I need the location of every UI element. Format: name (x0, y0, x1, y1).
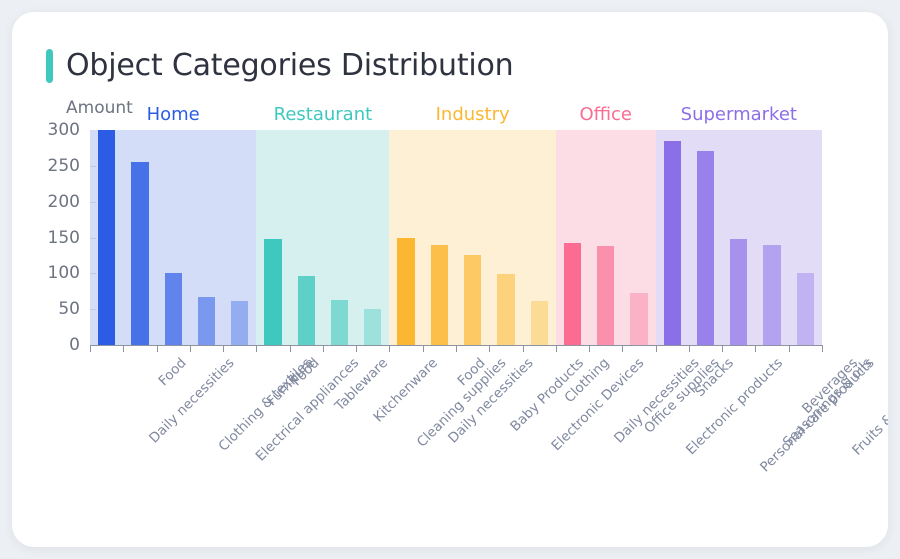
bar[interactable] (364, 309, 381, 345)
gridline (90, 309, 96, 310)
x-tick (456, 345, 457, 352)
chart-card: Object Categories Distribution Amount Ho… (12, 12, 888, 547)
x-tick (90, 345, 91, 352)
y-tick-label: 300 (36, 120, 80, 140)
x-tick (689, 345, 690, 352)
y-axis-title: Amount (66, 98, 133, 118)
bar-chart: Amount HomeRestaurantIndustryOfficeSuper… (12, 12, 888, 547)
y-tick-label: 200 (36, 192, 80, 212)
bar[interactable] (497, 274, 514, 345)
x-tick (223, 345, 224, 352)
bar[interactable] (597, 246, 614, 345)
gridline (90, 273, 96, 274)
bar[interactable] (98, 130, 115, 345)
group-label-restaurant: Restaurant (274, 104, 373, 125)
bar[interactable] (331, 300, 348, 345)
bar[interactable] (131, 162, 148, 345)
x-tick (589, 345, 590, 352)
gridline (90, 202, 96, 203)
bar[interactable] (531, 301, 548, 345)
bar[interactable] (298, 276, 315, 345)
x-tick (256, 345, 257, 352)
y-tick-label: 0 (36, 335, 80, 355)
bar[interactable] (630, 293, 647, 345)
y-tick-label: 250 (36, 156, 80, 176)
bar[interactable] (464, 255, 481, 345)
bar[interactable] (431, 245, 448, 345)
x-tick (722, 345, 723, 352)
gridline (90, 166, 96, 167)
bar[interactable] (564, 243, 581, 345)
plot-area (90, 130, 822, 345)
x-tick (157, 345, 158, 352)
bar[interactable] (198, 297, 215, 345)
group-label-office: Office (579, 104, 632, 125)
x-tick (523, 345, 524, 352)
bar[interactable] (730, 239, 747, 345)
y-tick-label: 150 (36, 228, 80, 248)
group-label-home: Home (147, 104, 200, 125)
x-tick (323, 345, 324, 352)
x-tick (190, 345, 191, 352)
bar[interactable] (797, 273, 814, 345)
x-tick (656, 345, 657, 352)
x-tick (556, 345, 557, 352)
bar[interactable] (664, 141, 681, 345)
x-tick (489, 345, 490, 352)
gridline (90, 238, 96, 239)
y-tick-label: 50 (36, 299, 80, 319)
x-tick (389, 345, 390, 352)
bar[interactable] (697, 151, 714, 345)
bar[interactable] (231, 301, 248, 345)
x-tick (789, 345, 790, 352)
group-label-industry: Industry (436, 104, 510, 125)
x-tick (755, 345, 756, 352)
y-tick-label: 100 (36, 263, 80, 283)
x-tick-label: Food (155, 355, 189, 389)
bar[interactable] (397, 238, 414, 346)
x-tick (423, 345, 424, 352)
group-label-supermarket: Supermarket (681, 104, 797, 125)
bar[interactable] (763, 245, 780, 345)
x-tick (290, 345, 291, 352)
x-tick (622, 345, 623, 352)
bar[interactable] (264, 239, 281, 345)
bar[interactable] (165, 273, 182, 345)
x-tick (822, 345, 823, 352)
x-tick (123, 345, 124, 352)
x-tick (356, 345, 357, 352)
x-tick-label: Daily necessities (146, 355, 237, 446)
